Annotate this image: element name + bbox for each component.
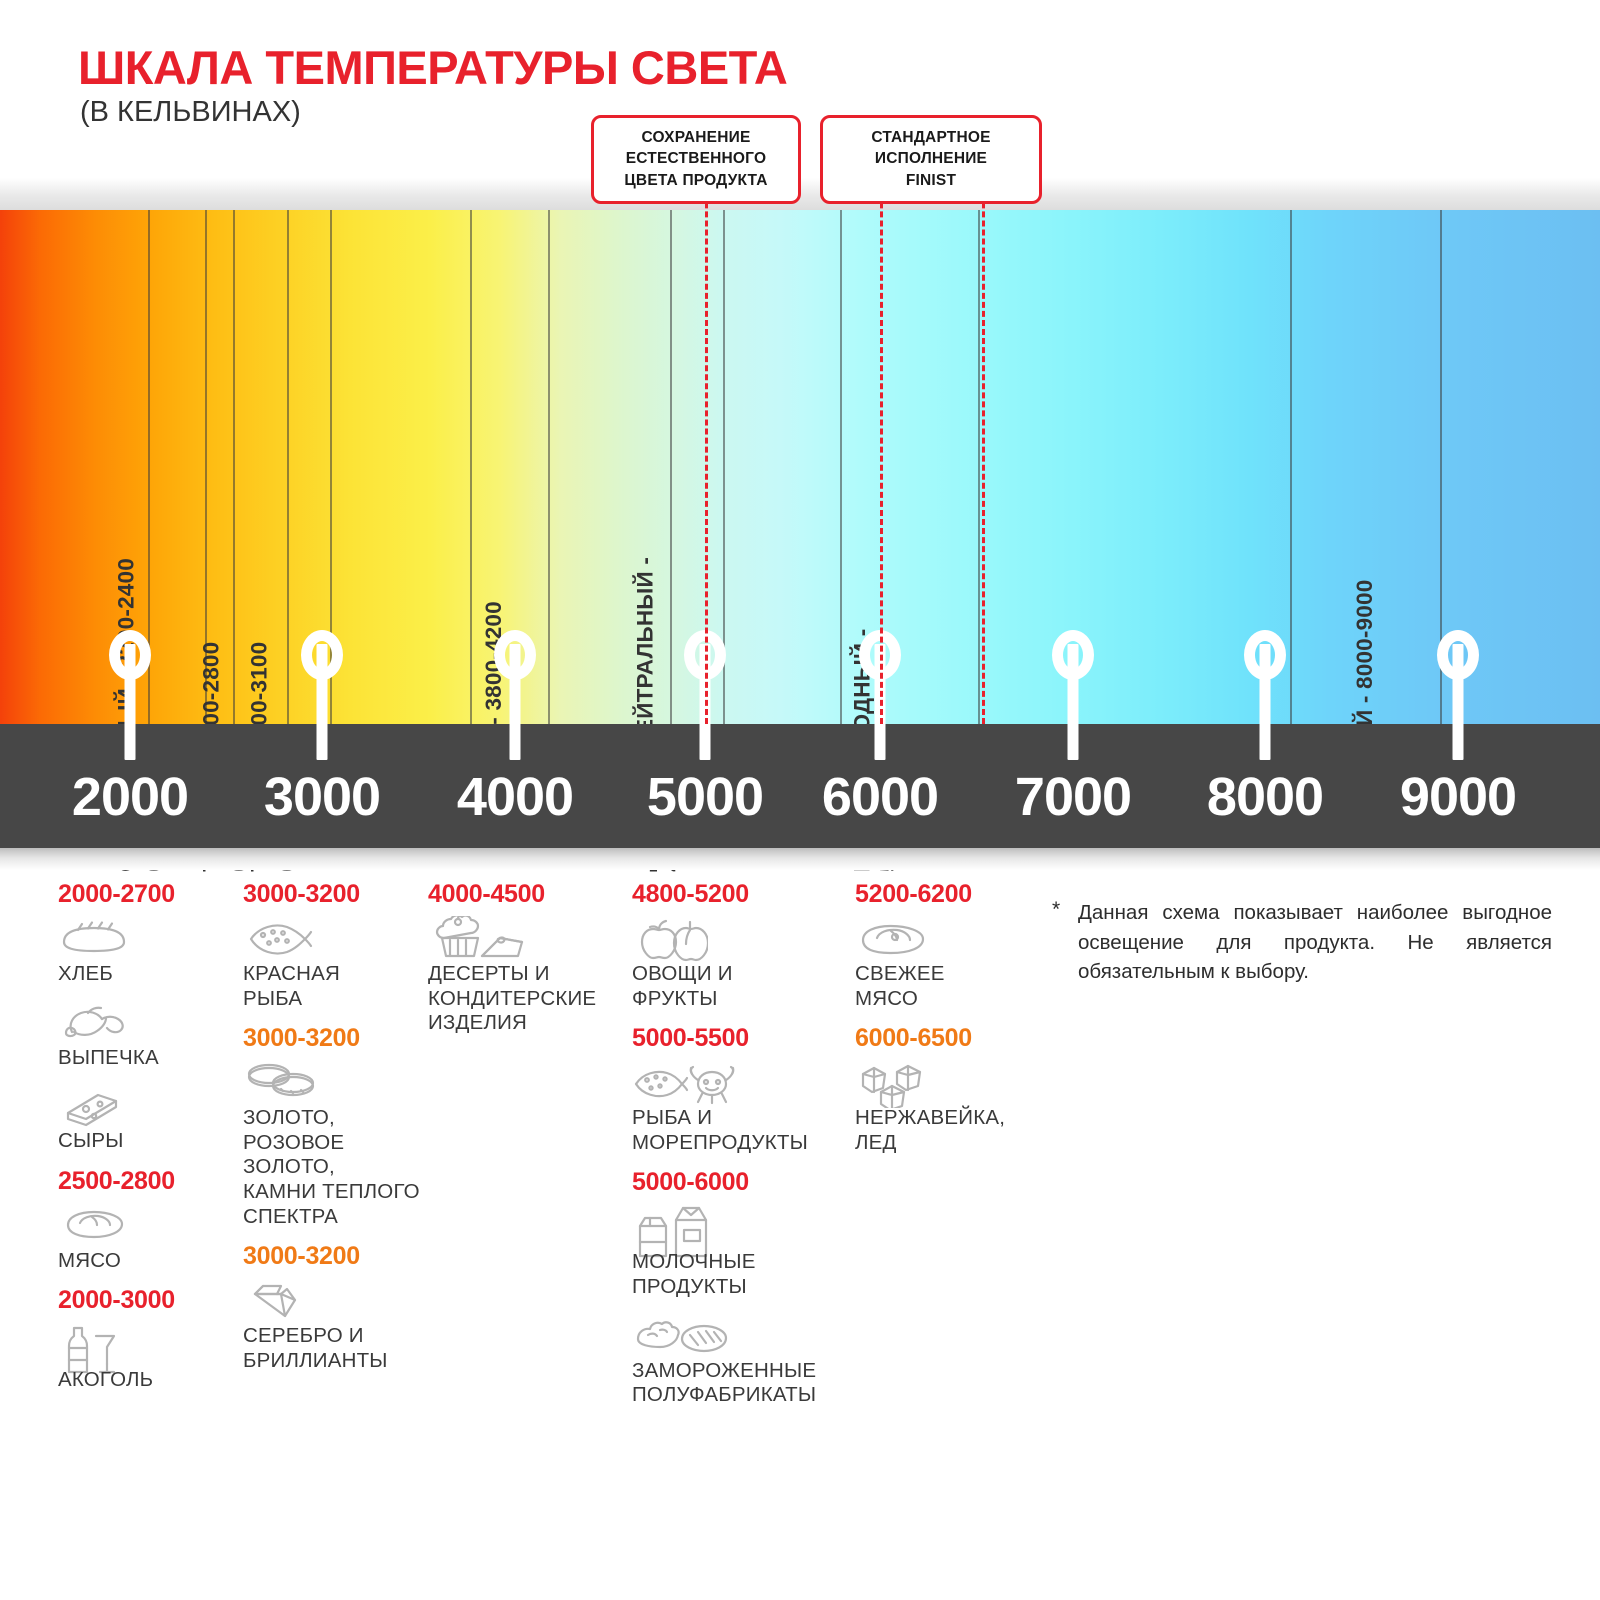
scale-tick-2000: 2000 (72, 766, 188, 828)
legend-column-3: 4000-4500ДЕСЕРТЫ И КОНДИТЕРСКИЕ ИЗДЕЛИЯ (428, 880, 623, 1049)
legend-range-label: 2000-3000 (58, 1286, 233, 1315)
legend: 2000-2700ХЛЕБВЫПЕЧКАСЫРЫ2500-2800МЯСО200… (0, 880, 1600, 1600)
legend-group: 5000-5500РЫБА И МОРЕПРОДУКТЫ (632, 1024, 847, 1155)
legend-item: ЗАМОРОЖЕННЫЕ ПОЛУФАБРИКАТЫ (632, 1313, 847, 1408)
zone-divider (470, 210, 472, 724)
callout-natural-color: СОХРАНЕНИЕ ЕСТЕСТВЕННОГО ЦВЕТА ПРОДУКТА (591, 115, 801, 204)
cheese-icon (58, 1083, 233, 1129)
legend-column-4: 4800-5200ОВОЩИ И ФРУКТЫ5000-5500РЫБА И М… (632, 880, 847, 1421)
temperature-gradient-bar: СУПЕР ТЕПЛЫЙ - 2200-2400 (тип К 2400) ТЕ… (0, 210, 1600, 724)
legend-group: 3000-3200СЕРЕБРО И БРИЛЛИАНТЫ (243, 1242, 428, 1373)
legend-column-5: 5200-6200СВЕЖЕЕ МЯСО6000-6500НЕРЖАВЕЙКА,… (855, 880, 1040, 1168)
scale-tick-3000: 3000 (264, 766, 380, 828)
legend-group: 5000-6000МОЛОЧНЫЕ ПРОДУКТЫЗАМОРОЖЕННЫЕ П… (632, 1168, 847, 1407)
legend-item-caption: МОЛОЧНЫЕ ПРОДУКТЫ (632, 1250, 847, 1299)
red-dashed-line-5800 (880, 130, 883, 724)
milk-icon (632, 1204, 847, 1250)
legend-item: РЫБА И МОРЕПРОДУКТЫ (632, 1060, 847, 1155)
legend-range-label: 5000-6000 (632, 1168, 847, 1197)
scale-tick-5000: 5000 (647, 766, 763, 828)
legend-range-label: 4800-5200 (632, 880, 847, 909)
scale-strip-shadow (0, 848, 1600, 870)
fresh-meat-icon (855, 916, 1040, 962)
legend-item: СЕРЕБРО И БРИЛЛИАНТЫ (243, 1278, 428, 1373)
legend-group: 3000-3200КРАСНАЯ РЫБА (243, 880, 428, 1011)
rings-icon (243, 1060, 428, 1106)
legend-item: КРАСНАЯ РЫБА (243, 916, 428, 1011)
scale-tick-7000: 7000 (1015, 766, 1131, 828)
legend-range-label: 2000-2700 (58, 880, 233, 909)
legend-item-caption: РЫБА И МОРЕПРОДУКТЫ (632, 1106, 847, 1155)
zone-divider (978, 210, 980, 724)
legend-item-caption: КРАСНАЯ РЫБА (243, 962, 428, 1011)
legend-item-caption: ОВОЩИ И ФРУКТЫ (632, 962, 847, 1011)
legend-item: НЕРЖАВЕЙКА, ЛЕД (855, 1060, 1040, 1155)
zone-divider (1290, 210, 1292, 724)
legend-item-caption: СВЕЖЕЕ МЯСО (855, 962, 1040, 1011)
legend-item-caption: МЯСО (58, 1249, 233, 1274)
legend-item: СВЕЖЕЕ МЯСО (855, 916, 1040, 1011)
zone-divider (840, 210, 842, 724)
legend-item: АКОГОЛЬ (58, 1322, 233, 1393)
legend-range-label: 5200-6200 (855, 880, 1040, 909)
footnote-text: Данная схема показывает наиболее выгодно… (1078, 898, 1552, 987)
legend-group: 5200-6200СВЕЖЕЕ МЯСО (855, 880, 1040, 1011)
legend-range-label: 6000-6500 (855, 1024, 1040, 1053)
legend-item-caption: ЗАМОРОЖЕННЫЕ ПОЛУФАБРИКАТЫ (632, 1359, 847, 1408)
legend-item: ДЕСЕРТЫ И КОНДИТЕРСКИЕ ИЗДЕЛИЯ (428, 916, 623, 1036)
legend-column-2: 3000-3200КРАСНАЯ РЫБА3000-3200ЗОЛОТО, РО… (243, 880, 428, 1386)
seafood-icon (632, 1060, 847, 1106)
legend-group: 2000-2700ХЛЕБВЫПЕЧКАСЫРЫ (58, 880, 233, 1154)
legend-range-label: 3000-3200 (243, 1024, 428, 1053)
dessert-icon (428, 916, 623, 962)
scale-marker-9000 (1436, 630, 1480, 760)
legend-item-caption: ХЛЕБ (58, 962, 233, 987)
vegetables-icon (632, 916, 847, 962)
legend-range-label: 3000-3200 (243, 1242, 428, 1271)
scale-tick-4000: 4000 (457, 766, 573, 828)
scale-marker-7000 (1051, 630, 1095, 760)
footnote-star: * (1052, 898, 1078, 987)
red-dashed-line-6500 (982, 130, 985, 724)
legend-item-caption: ВЫПЕЧКА (58, 1046, 233, 1071)
fish-icon (243, 916, 428, 962)
legend-group: 2500-2800МЯСО (58, 1167, 233, 1274)
scale-tick-6000: 6000 (822, 766, 938, 828)
legend-item: МОЛОЧНЫЕ ПРОДУКТЫ (632, 1204, 847, 1299)
legend-item-caption: АКОГОЛЬ (58, 1368, 233, 1393)
legend-item-caption: СЕРЕБРО И БРИЛЛИАНТЫ (243, 1324, 428, 1373)
scale-strip (0, 724, 1600, 848)
scale-marker-4000 (493, 630, 537, 760)
scale-marker-3000 (300, 630, 344, 760)
legend-item: ЗОЛОТО, РОЗОВОЕ ЗОЛОТО, КАМНИ ТЕПЛОГО СП… (243, 1060, 428, 1229)
legend-group: 4800-5200ОВОЩИ И ФРУКТЫ (632, 880, 847, 1011)
scale-marker-8000 (1243, 630, 1287, 760)
croissant-icon (58, 1000, 233, 1046)
legend-item-caption: ЗОЛОТО, РОЗОВОЕ ЗОЛОТО, КАМНИ ТЕПЛОГО СП… (243, 1106, 428, 1229)
legend-range-label: 4000-4500 (428, 880, 623, 909)
legend-item: ВЫПЕЧКА (58, 1000, 233, 1071)
legend-item: ОВОЩИ И ФРУКТЫ (632, 916, 847, 1011)
legend-group: 2000-3000АКОГОЛЬ (58, 1286, 233, 1393)
footnote: * Данная схема показывает наиболее выгод… (1052, 898, 1552, 987)
scale-tick-8000: 8000 (1207, 766, 1323, 828)
red-dashed-line-4800 (705, 130, 708, 724)
legend-group: 3000-3200ЗОЛОТО, РОЗОВОЕ ЗОЛОТО, КАМНИ Т… (243, 1024, 428, 1229)
legend-item-caption: НЕРЖАВЕЙКА, ЛЕД (855, 1106, 1040, 1155)
callout-finist-standard: СТАНДАРТНОЕ ИСПОЛНЕНИЕ FINIST (820, 115, 1042, 204)
page-title: ШКАЛА ТЕМПЕРАТУРЫ СВЕТА (78, 40, 787, 95)
steak-icon (58, 1203, 233, 1249)
legend-group: 6000-6500НЕРЖАВЕЙКА, ЛЕД (855, 1024, 1040, 1155)
legend-range-label: 5000-5500 (632, 1024, 847, 1053)
scale-marker-2000 (108, 630, 152, 760)
legend-range-label: 3000-3200 (243, 880, 428, 909)
page-subtitle: (В КЕЛЬВИНАХ) (80, 96, 301, 129)
scale-tick-9000: 9000 (1400, 766, 1516, 828)
diamond-icon (243, 1278, 428, 1324)
legend-item: СЫРЫ (58, 1083, 233, 1154)
frozen-icon (632, 1313, 847, 1359)
legend-item-caption: ДЕСЕРТЫ И КОНДИТЕРСКИЕ ИЗДЕЛИЯ (428, 962, 623, 1036)
legend-item: МЯСО (58, 1203, 233, 1274)
alcohol-icon (58, 1322, 233, 1368)
legend-group: 4000-4500ДЕСЕРТЫ И КОНДИТЕРСКИЕ ИЗДЕЛИЯ (428, 880, 623, 1036)
legend-range-label: 2500-2800 (58, 1167, 233, 1196)
zone-divider (548, 210, 550, 724)
legend-item: ХЛЕБ (58, 916, 233, 987)
bread-icon (58, 916, 233, 962)
legend-item-caption: СЫРЫ (58, 1129, 233, 1154)
legend-column-1: 2000-2700ХЛЕБВЫПЕЧКАСЫРЫ2500-2800МЯСО200… (58, 880, 233, 1406)
ice-cubes-icon (855, 1060, 1040, 1106)
